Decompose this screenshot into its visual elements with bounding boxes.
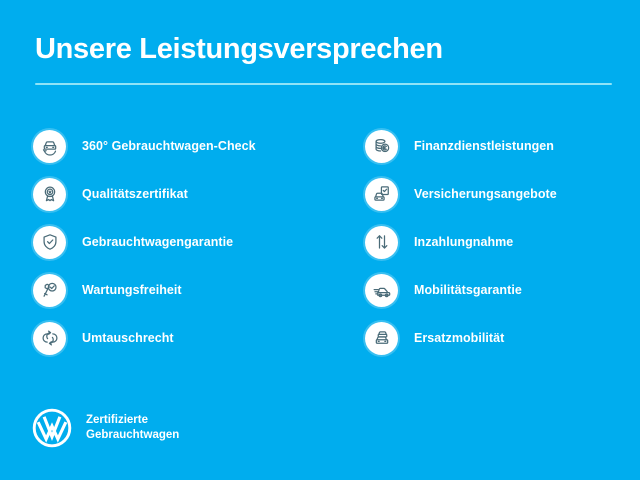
feature-item-versicherungsangebote[interactable]: Versicherungsangebote (365, 170, 635, 218)
feature-label: Ersatzmobilität (414, 331, 504, 345)
volkswagen-logo-icon (30, 406, 74, 450)
feature-item-gebrauchtwagen-check[interactable]: 360° Gebrauchtwagen-Check (33, 122, 333, 170)
feature-label: Versicherungsangebote (414, 187, 557, 201)
award-rosette-icon (33, 178, 66, 211)
feature-label: Qualitätszertifikat (82, 187, 188, 201)
brand-line-1: Zertifizierte (86, 414, 148, 426)
brand-text: Zertifizierte Gebrauchtwagen (86, 413, 179, 443)
wrench-check-icon (33, 274, 66, 307)
page-title: Unsere Leistungsversprechen (35, 32, 613, 66)
feature-item-gebrauchtwagengarantie[interactable]: Gebrauchtwagengarantie (33, 218, 333, 266)
feature-item-ersatzmobilitaet[interactable]: Ersatzmobilität (365, 314, 635, 362)
feature-label: Finanzdienstleistungen (414, 139, 554, 153)
feature-item-qualitaetszertifikat[interactable]: Qualitätszertifikat (33, 170, 333, 218)
feature-label: Umtauschrecht (82, 331, 174, 345)
feature-label: Mobilitätsgarantie (414, 283, 522, 297)
car-motion-icon (365, 274, 398, 307)
feature-item-inzahlungnahme[interactable]: Inzahlungnahme (365, 218, 635, 266)
feature-column-right: Finanzdienstleistungen Versicherungsange… (365, 122, 635, 362)
coins-euro-icon (365, 130, 398, 163)
feature-item-finanzdienstleistungen[interactable]: Finanzdienstleistungen (365, 122, 635, 170)
feature-item-wartungsfreiheit[interactable]: Wartungsfreiheit (33, 266, 333, 314)
brand-line-2: Gebrauchtwagen (86, 429, 179, 441)
promo-poster: Unsere Leistungsversprechen 360° Gebrauc… (0, 0, 640, 480)
car-document-check-icon (365, 178, 398, 211)
feature-label: Wartungsfreiheit (82, 283, 182, 297)
feature-label: Gebrauchtwagengarantie (82, 235, 233, 249)
shield-check-icon (33, 226, 66, 259)
title-divider (35, 83, 612, 85)
feature-item-mobilitaetsgarantie[interactable]: Mobilitätsgarantie (365, 266, 635, 314)
exchange-arrows-icon (33, 322, 66, 355)
header: Unsere Leistungsversprechen (35, 32, 613, 85)
feature-item-umtauschrecht[interactable]: Umtauschrecht (33, 314, 333, 362)
car-360-check-icon (33, 130, 66, 163)
feature-label: Inzahlungnahme (414, 235, 513, 249)
feature-list: 360° Gebrauchtwagen-Check Qualitätszerti… (0, 122, 640, 362)
up-down-arrows-icon (365, 226, 398, 259)
brand-lockup: Zertifizierte Gebrauchtwagen (30, 406, 179, 450)
feature-label: 360° Gebrauchtwagen-Check (82, 139, 256, 153)
two-cars-icon (365, 322, 398, 355)
feature-column-left: 360° Gebrauchtwagen-Check Qualitätszerti… (33, 122, 333, 362)
